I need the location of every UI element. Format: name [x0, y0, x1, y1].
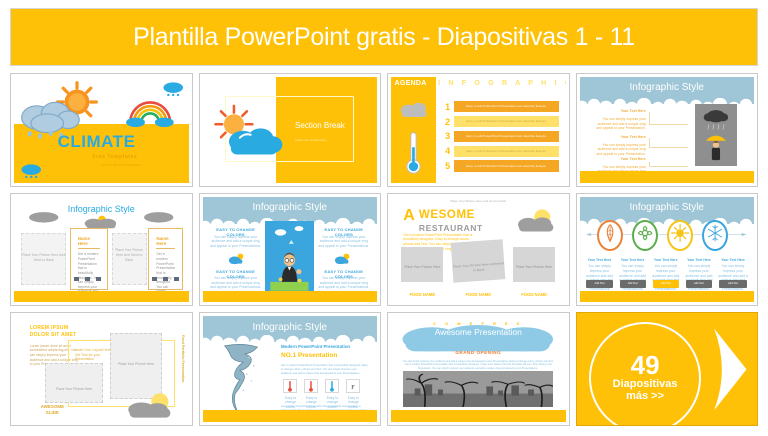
page-header: Plantilla PowerPoint gratis - Diapositiv… — [10, 8, 758, 66]
slide-thumbnail-infographic-umbrella[interactable]: Infographic Style Your Text Here You can… — [576, 73, 759, 187]
heading-line2: DOLOR SIT AMET — [30, 332, 77, 338]
fahrenheit-icon: F — [346, 379, 360, 394]
team-card[interactable]: Name Here Get a modern PowerPoint Presen… — [148, 228, 183, 289]
slide-title: Section Break — [295, 121, 345, 130]
vertical-label: Food Portfolio Presentation — [181, 335, 185, 382]
slide-title: Infographic Style — [580, 202, 755, 213]
season-button[interactable]: Add Text — [586, 280, 612, 287]
footer-line1: AWESOME — [41, 404, 65, 409]
season-body: You can simply impress your audience and… — [717, 264, 748, 292]
photo-placeholder[interactable]: Place Your Picture Here And Send to Back — [112, 233, 147, 286]
agenda-row-number: 1 — [445, 102, 454, 112]
flower-icon — [634, 222, 656, 244]
agenda-row-number: 3 — [445, 131, 454, 141]
agenda-row[interactable]: 5 Easy to edit PowerPoint Presentation t… — [445, 160, 558, 171]
photo-placeholder[interactable]: Place Your Picture Here — [513, 247, 555, 282]
agenda-row[interactable]: 1 Easy to edit PowerPoint Presentation t… — [445, 101, 558, 112]
season-heading: Your Text Here — [618, 258, 648, 263]
photo-placeholder[interactable]: Place Your Picture Here And Send to Back — [21, 233, 66, 286]
season-button[interactable]: Add Text — [719, 280, 747, 287]
facebook-icon[interactable] — [74, 277, 79, 281]
twitter-icon[interactable] — [85, 277, 90, 281]
season-item-sun[interactable] — [667, 220, 693, 251]
slide-thumbnail-team-cards[interactable]: Infographic Style Place Your Picture Her… — [10, 193, 193, 307]
slide-thumbnail-seasons-timeline[interactable]: Infographic Style — [576, 193, 759, 307]
slide-subtitle: Insert your subtitle here — [295, 138, 326, 142]
team-card[interactable]: Name Here Get a modern PowerPoint Presen… — [70, 228, 108, 289]
photo-placeholder-text: Place Your Picture Here — [401, 247, 443, 269]
slide-thumbnail-grand-opening[interactable]: C O M E F R E E Awesome Presentation GRA… — [387, 312, 570, 426]
more-slides-badge[interactable]: 49 Diapositivas más >> — [576, 312, 759, 426]
slide-thumbnail-grid: CLIMATE Free Templates Insert the Title … — [10, 73, 758, 426]
sun-icon — [669, 222, 691, 244]
photo-placeholder-text: Place Your Picture Here and send to Back — [451, 239, 505, 274]
agenda-row-number: 2 — [445, 117, 454, 127]
snowflake-icon — [704, 222, 726, 244]
agenda-row[interactable]: 2 Easy to edit PowerPoint Presentation t… — [445, 116, 558, 127]
instagram-icon[interactable] — [96, 277, 101, 281]
photo-placeholder-text: Place Your Picture Here — [513, 247, 555, 269]
page-root: Plantilla PowerPoint gratis - Diapositiv… — [0, 0, 768, 436]
palm-tree-icon — [403, 371, 553, 407]
slide-subtitle: GRAND OPENING — [391, 350, 566, 355]
slide-title: Infographic Style — [203, 322, 378, 333]
season-body: You can simply impress your audience and… — [651, 264, 681, 292]
agenda-row-number: 4 — [445, 146, 454, 156]
slide-thumbnail-infographic-businessman[interactable]: Infographic Style — [199, 193, 382, 307]
raindrop-icon — [19, 162, 43, 179]
slide-thumbnail-section-break[interactable]: Section Break Insert your subtitle here — [199, 73, 382, 187]
photo-caption: FOOD NAME — [513, 292, 555, 297]
cloud-icon — [225, 119, 284, 163]
slide-thumbnail-tornado-presentation[interactable]: Infographic Style Modern PowerPoint Pres… — [199, 312, 382, 426]
photo-caption: FOOD NAME — [452, 292, 504, 297]
badge-circle: 49 Diapositivas más >> — [589, 322, 701, 426]
slide-thumbnail-awesome-restaurant[interactable]: Place Your Picture Here and send to back… — [387, 193, 570, 307]
businessman-icon — [265, 221, 314, 291]
block-body: You can simply impress your audience and… — [209, 235, 261, 249]
agenda-row-number: 5 — [445, 161, 454, 171]
season-item-leaf[interactable] — [597, 220, 623, 251]
slide-subtitle-secondary: Insert the Title of Your Presentation — [101, 164, 141, 167]
item-heading: Your Text Here — [593, 157, 645, 162]
cloud-icon — [143, 211, 174, 224]
item-heading: Your Text Here — [593, 109, 645, 114]
sun-icon — [119, 392, 178, 419]
photo-placeholder-text: Place Your Picture Here And Send to Back — [22, 234, 65, 263]
sun-icon — [513, 203, 558, 239]
item-body: You can simply impress your audience and… — [593, 143, 645, 157]
block-body: You can simply impress your audience and… — [318, 235, 370, 249]
block-body: You can simply impress your audience and… — [209, 276, 261, 290]
agenda-row-text: Easy to edit PowerPoint Presentation tex… — [454, 131, 558, 142]
instagram-icon[interactable] — [174, 277, 179, 281]
title-initial: A — [403, 209, 415, 223]
slide-title: CLIMATE — [58, 132, 136, 152]
rainbow-icon — [124, 95, 176, 127]
slide-body: Get a modern PowerPoint Presentation tha… — [281, 364, 368, 376]
cloud-icon — [28, 211, 59, 224]
facebook-icon[interactable] — [152, 277, 157, 281]
agenda-row[interactable]: 4 Easy to edit PowerPoint Presentation t… — [445, 146, 558, 157]
agenda-row[interactable]: 3 Easy to edit PowerPoint Presentation t… — [445, 131, 558, 142]
photo-placeholder[interactable]: Place Your Picture Here and send to Back — [451, 239, 506, 283]
storm-cloud-icon — [398, 98, 431, 125]
slide-subtitle: Free Templates — [93, 154, 138, 160]
twitter-icon[interactable] — [163, 277, 168, 281]
slide-thumbnail-awesome-slide-portfolio[interactable]: LOREM IPSUM DOLOR SIT AMET Lorem ipsum d… — [10, 312, 193, 426]
season-heading: Your Text Here — [651, 258, 681, 263]
season-body: You can simply impress your audience and… — [585, 264, 615, 292]
slide-count: 49 — [631, 353, 660, 378]
agenda-row-text: Easy to edit PowerPoint Presentation tex… — [454, 160, 558, 171]
thermometer-icon — [304, 379, 318, 394]
season-button[interactable]: Add Text — [620, 280, 646, 287]
leaf-icon — [599, 222, 621, 244]
agenda-row-text: Easy to edit PowerPoint Presentation tex… — [454, 116, 558, 127]
season-heading: Your Text Here — [717, 258, 748, 263]
photo-placeholder[interactable]: Place Your Picture Here — [401, 247, 443, 282]
slide-heading: NO.1 Presentation — [281, 352, 337, 359]
umbrella-person-icon — [695, 104, 737, 165]
slide-title-agenda: AGENDA — [394, 80, 426, 87]
season-button[interactable]: Add Text — [686, 280, 712, 287]
chevron-right-icon[interactable] — [703, 327, 750, 412]
agenda-row-text: Easy to edit PowerPoint Presentation tex… — [454, 146, 558, 157]
season-heading: Your Text Here — [585, 258, 615, 263]
slide-kicker: Modern PowerPoint Presentation — [281, 344, 350, 349]
thermometer-icon — [403, 130, 424, 176]
slide-thumbnail-agenda-infographic[interactable]: AGENDA I N F O G R A P H I C 1 Easy to e… — [387, 73, 570, 187]
slide-subtitle: RESTAURANT — [419, 223, 483, 233]
raindrop-icon — [161, 80, 185, 97]
sun-behind-cloud-icon — [333, 252, 352, 266]
slide-thumbnail-climate-cover[interactable]: CLIMATE Free Templates Insert the Title … — [10, 73, 193, 187]
photo-placeholder-text: Place Your Picture Here — [111, 334, 161, 366]
slide-title: Infographic Style — [203, 202, 378, 213]
season-body: You can simply impress your audience and… — [684, 264, 714, 292]
season-item-snowflake[interactable] — [702, 220, 728, 251]
agenda-row-text: Easy to edit PowerPoint Presentation tex… — [454, 101, 558, 112]
photo-placeholder[interactable]: Place Your Picture Here — [110, 333, 162, 399]
slide-title: Awesome Presentation — [408, 327, 548, 337]
page-title: Plantilla PowerPoint gratis - Diapositiv… — [133, 23, 635, 52]
slide-body: You can simply impress your audience and… — [401, 360, 555, 371]
badge-label-line1: Diapositivas — [613, 378, 678, 390]
heading-line1: LOREM IPSUM — [30, 325, 69, 331]
photo-placeholder-text: Place Your Picture Here And Send to Back — [113, 234, 146, 263]
slide-title: WESOME — [419, 209, 475, 221]
slide-title: Infographic Style — [580, 82, 755, 93]
photo-placeholder-text: Place Your Picture Here — [46, 364, 102, 392]
sun-behind-cloud-icon — [80, 214, 122, 230]
item-heading: Your Text Here — [593, 135, 645, 140]
season-button[interactable]: Add Text — [653, 280, 679, 287]
thermometer-icon — [283, 379, 297, 394]
slide-title-infographic: I N F O G R A P H I C — [438, 80, 565, 87]
item-body: You can simply impress your audience and… — [593, 117, 645, 131]
badge-label-line2: más >> — [626, 390, 664, 403]
season-heading: Your Text Here — [684, 258, 714, 263]
season-body: You can simply impress your audience and… — [618, 264, 648, 292]
block-body: You can simply impress your audience and… — [318, 276, 370, 290]
tornado-icon — [209, 340, 272, 416]
team-card-name: Name Here — [78, 236, 100, 246]
photo-placeholder[interactable]: Place Your Picture Here — [45, 363, 103, 403]
team-card-name: Name Here — [156, 236, 175, 246]
sun-behind-cloud-icon — [227, 252, 246, 266]
svg-text:F: F — [351, 385, 355, 391]
photo-caption: FOOD NAME — [401, 292, 443, 297]
thermometer-icon — [325, 379, 339, 394]
season-item-flower[interactable] — [632, 220, 658, 251]
footer-line2: SLIDE — [46, 410, 59, 415]
